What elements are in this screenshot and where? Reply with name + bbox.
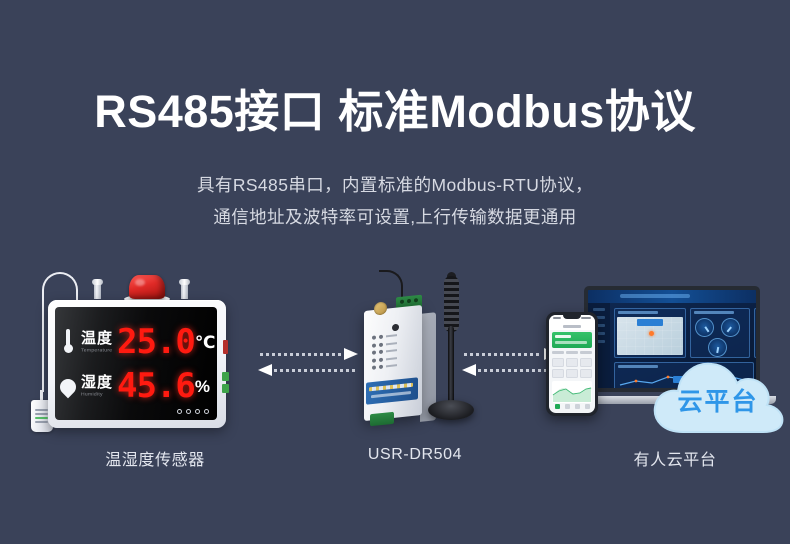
mounting-post-left [94, 283, 101, 299]
humidity-value: 45.6 [117, 369, 195, 403]
sensor-enclosure: 温度 Temperature 25.0 ℃ 湿度 Humidity 45.6 [48, 300, 226, 428]
cloud-badge-label: 云平台 [649, 352, 787, 436]
phone-tab-bar[interactable] [552, 404, 592, 409]
subtitle-line-2: 通信地址及波特率可设置,上行传输数据更通用 [0, 203, 790, 231]
phone-metric-cards [552, 358, 592, 378]
mounting-post-right [181, 283, 188, 299]
temperature-reading-row: 温度 Temperature 25.0 ℃ [55, 319, 217, 365]
humidity-label-cn: 湿度 [81, 375, 113, 390]
phone-device-card [552, 332, 592, 348]
product-banner: RS485接口 标准Modbus协议 具有RS485串口，内置标准的Modbus… [0, 0, 790, 544]
humidity-label-block: 湿度 Humidity [81, 375, 113, 398]
gauge-2 [721, 318, 740, 337]
phone-chart [552, 381, 592, 403]
humidity-reading-row: 湿度 Humidity 45.6 % [55, 363, 217, 409]
dashboard-list-panel [754, 308, 760, 358]
water-drop-icon [55, 376, 81, 396]
antenna-magnetic-base [428, 400, 474, 420]
caption-sensor: 温湿度传感器 [60, 446, 250, 470]
sensor-terminal-1 [222, 372, 229, 381]
cloud-platform-group: 云平台 [520, 278, 780, 438]
antenna-coil [444, 276, 459, 332]
temperature-label-en: Temperature [81, 349, 113, 354]
sensor-display-screen: 温度 Temperature 25.0 ℃ 湿度 Humidity 45.6 [55, 307, 217, 420]
sensor-side-button[interactable] [223, 340, 228, 354]
gateway-led-panel [372, 334, 406, 372]
temperature-unit: ℃ [195, 334, 217, 351]
alarm-light-icon [129, 275, 165, 299]
temperature-value: 25.0 [117, 325, 195, 359]
phone-screen [549, 315, 595, 413]
antenna-rod [448, 326, 454, 404]
arrow-backward [258, 364, 358, 376]
caption-gateway: USR-DR504 [320, 446, 510, 464]
sensor-terminal-2 [222, 384, 229, 393]
temperature-label-cn: 温度 [81, 331, 113, 346]
caption-cloud: 有人云平台 [580, 446, 770, 470]
phone-tab-row[interactable] [552, 351, 592, 354]
gateway-bottom-terminal [370, 412, 394, 427]
cloud-platform-badge: 云平台 [649, 352, 787, 436]
dashboard-gauges-panel [690, 308, 750, 358]
humidity-unit: % [195, 378, 217, 395]
arrow-forward [258, 348, 358, 360]
gauge-1 [695, 318, 714, 337]
status-indicator-leds [177, 409, 209, 414]
dashboard-map-panel [614, 308, 686, 358]
page-title: RS485接口 标准Modbus协议 [0, 88, 790, 135]
mobile-phone-app [546, 312, 598, 416]
thermometer-icon [55, 329, 81, 355]
humidity-label-en: Humidity [81, 393, 113, 398]
connection-arrows-sensor-gateway [258, 348, 358, 382]
dashboard-header-bar [588, 290, 756, 303]
phone-nav-bar [549, 322, 595, 330]
temperature-humidity-sensor: 温度 Temperature 25.0 ℃ 湿度 Humidity 45.6 [36, 262, 256, 437]
phone-notch [563, 315, 581, 319]
temperature-label-block: 温度 Temperature [81, 331, 113, 354]
subtitle-line-1: 具有RS485串口，内置标准的Modbus-RTU协议， [0, 171, 790, 199]
